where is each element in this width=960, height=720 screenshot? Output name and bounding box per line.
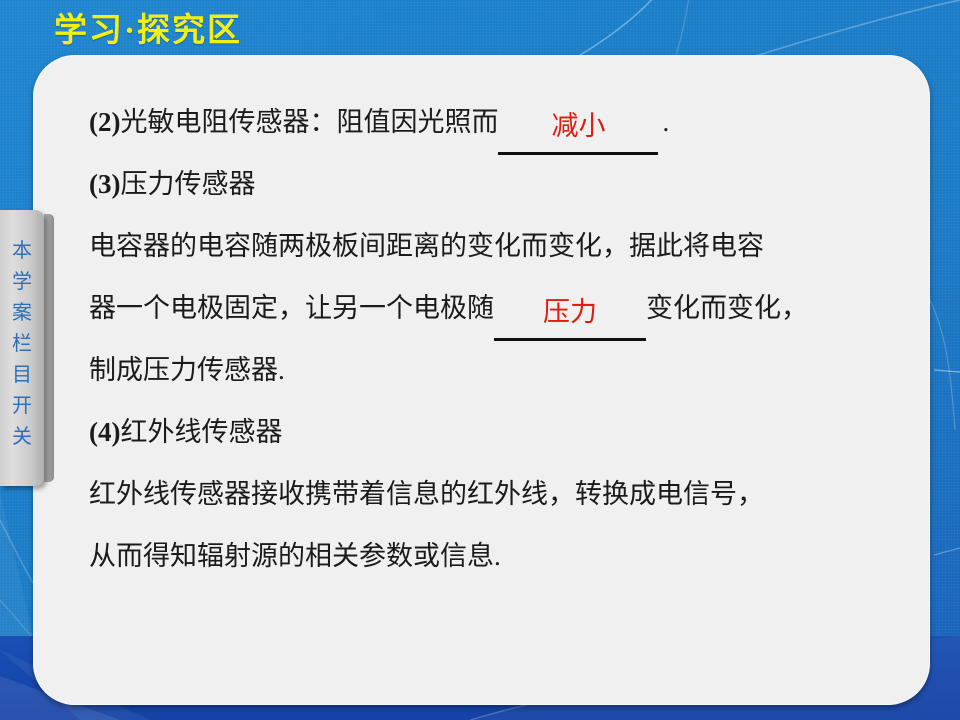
page-title: 学习·探究区 [54,11,242,51]
line-text-after: . [658,91,669,153]
content-line: 制成压力传感器. [89,339,908,401]
list-marker: (3) [89,169,120,199]
line-text-before: 红外线传感器接收携带着信息的红外线，转换成电信号， [89,479,764,509]
list-marker: (4) [89,417,120,447]
content-line: (3)压力传感器 [89,153,908,215]
line-text-before: 红外线传感器 [120,417,282,447]
side-tab-char: 案 [0,298,44,329]
fill-in-blank-answer: 减小 [498,100,658,155]
content-line: (4)红外线传感器 [89,401,908,463]
fill-in-blank-answer: 压力 [494,286,646,341]
side-tab-char: 栏 [0,329,44,360]
content-line: 从而得知辐射源的相关参数或信息. [89,525,908,587]
line-text-after: 变化而变化， [646,293,808,323]
list-marker: (2) [89,107,120,137]
side-tab-column-switch[interactable]: 本 学 案 栏 目 开 关 [0,210,44,486]
side-tab-char: 本 [0,236,44,267]
content-line: 电容器的电容随两极板间距离的变化而变化，据此将电容 [89,215,908,277]
line-text-before: 光敏电阻传感器：阻值因光照而 [120,107,498,137]
content-body: (2)光敏电阻传感器：阻值因光照而减小. (3)压力传感器 电容器的电容随两极板… [89,91,908,587]
content-panel: (2)光敏电阻传感器：阻值因光照而减小. (3)压力传感器 电容器的电容随两极板… [33,55,930,705]
side-tab-edge [44,214,54,482]
content-line: 红外线传感器接收携带着信息的红外线，转换成电信号， [89,463,908,525]
content-line: (2)光敏电阻传感器：阻值因光照而减小. [89,91,908,153]
line-text-before: 电容器的电容随两极板间距离的变化而变化，据此将电容 [89,231,764,261]
content-line: 器一个电极固定，让另一个电极随压力变化而变化， [89,277,908,339]
line-text-before: 制成压力传感器. [89,355,285,385]
side-tab-char: 目 [0,360,44,391]
side-tab-char: 学 [0,267,44,298]
line-text-before: 从而得知辐射源的相关参数或信息. [89,541,501,571]
slide-canvas: 学习·探究区 (2)光敏电阻传感器：阻值因光照而减小. (3)压力传感器 电容器… [0,0,960,720]
line-text-before: 器一个电极固定，让另一个电极随 [89,293,494,323]
side-tab-char: 开 [0,391,44,422]
side-tab-label: 本 学 案 栏 目 开 关 [0,236,44,453]
side-tab-char: 关 [0,422,44,453]
line-text-before: 压力传感器 [120,169,255,199]
